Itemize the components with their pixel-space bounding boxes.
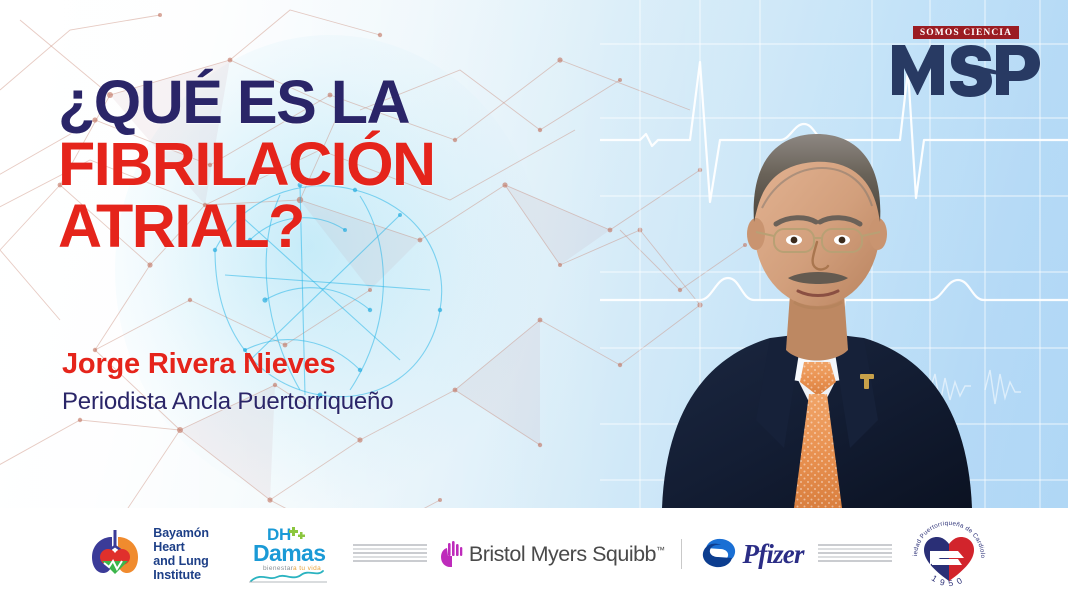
speaker-role: Periodista Ancla Puertorriqueño [62, 388, 532, 416]
bhl-line-1: Bayamón [153, 526, 209, 540]
sponsor-sociedad-puertorriquena-de-cardiologia[interactable]: Sociedad Puertorriqueña de Cardiología 1… [906, 511, 992, 597]
damas-logo-icon: D H Damas bienestar a tu vida [243, 523, 339, 585]
lungs-heart-icon [84, 527, 146, 581]
msp-wordmark-icon [890, 41, 1042, 97]
sponsor-bristol-myers-squibb[interactable]: Bristol Myers Squibb™ [441, 541, 665, 567]
bms-wordmark: Bristol Myers Squibb™ [469, 542, 665, 567]
divider-lines-left [353, 542, 427, 566]
sponsor-bayamon-heart-and-lung-institute[interactable]: Bayamón Heart and Lung Institute [84, 526, 209, 582]
bms-hand-icon [441, 541, 463, 567]
svg-text:a tu vida: a tu vida [293, 565, 321, 572]
svg-text:bienestar: bienestar [263, 565, 294, 572]
headline: ¿QUÉ ES LA FIBRILACIÓN ATRIAL? [58, 74, 558, 254]
sponsor-damas[interactable]: D H Damas bienestar a tu vida [243, 523, 339, 585]
headline-line-3: ATRIAL? [58, 198, 558, 254]
headline-line-1: ¿QUÉ ES LA [58, 74, 558, 130]
speaker-block: Jorge Rivera Nieves Periodista Ancla Pue… [62, 348, 532, 416]
msp-tagline: SOMOS CIENCIA [913, 26, 1019, 39]
headline-line-2: FIBRILACIÓN [58, 136, 558, 192]
pfizer-wordmark: Pfizer [743, 539, 804, 570]
bms-name: Bristol Myers Squibb [469, 542, 656, 566]
msp-logo: SOMOS CIENCIA [890, 22, 1042, 97]
sponsor-divider [681, 539, 682, 569]
sponsor-pfizer[interactable]: Pfizer [698, 536, 804, 572]
svg-text:Damas: Damas [253, 540, 325, 566]
pfizer-swirl-icon [698, 536, 740, 572]
divider-lines-right [818, 542, 892, 566]
promo-banner: ¿QUÉ ES LA FIBRILACIÓN ATRIAL? Jorge Riv… [0, 0, 1068, 600]
bhl-line-4: Institute [153, 568, 209, 582]
sponsor-bar: Bayamón Heart and Lung Institute D H Dam… [0, 508, 1068, 600]
bms-trademark: ™ [656, 544, 665, 554]
sponsor-bhl-name: Bayamón Heart and Lung Institute [153, 526, 209, 582]
cardiology-society-icon: Sociedad Puertorriqueña de Cardiología 1… [906, 511, 992, 597]
bhl-line-2: Heart [153, 540, 209, 554]
speaker-portrait [652, 88, 982, 508]
speaker-name: Jorge Rivera Nieves [62, 348, 532, 381]
bhl-line-3: and Lung [153, 554, 209, 568]
